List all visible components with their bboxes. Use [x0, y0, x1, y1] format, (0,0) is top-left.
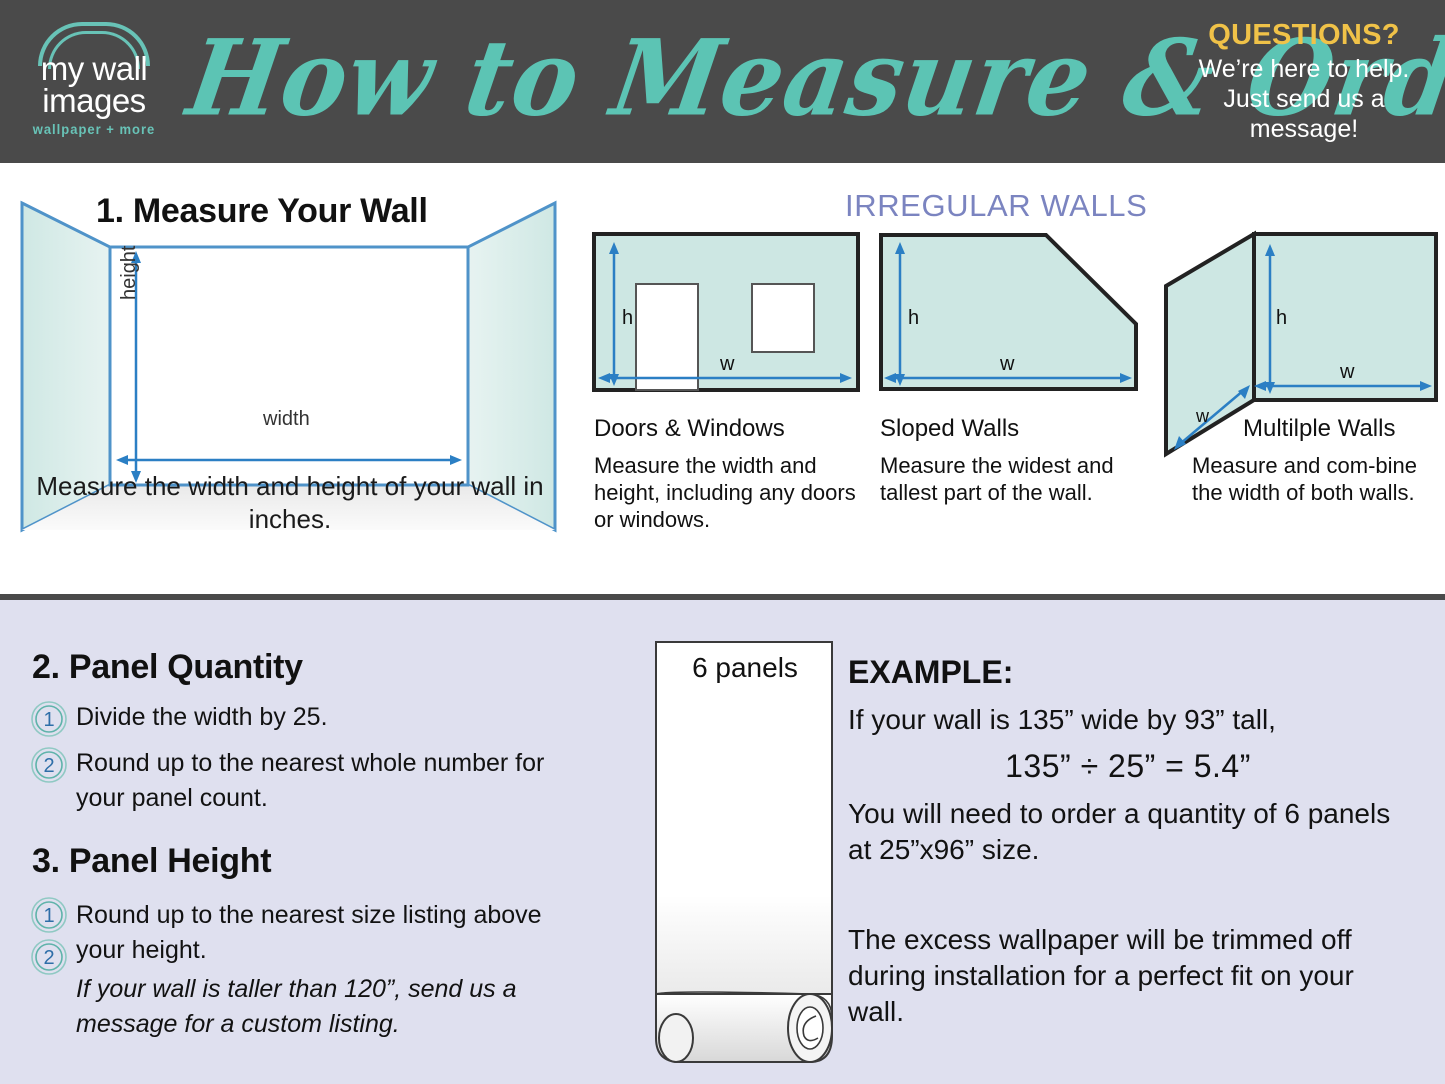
example-heading: EXAMPLE: [848, 654, 1013, 691]
logo-tagline-text: wallpaper + more [33, 122, 156, 138]
example-line-3: The excess wallpaper will be trimmed off… [848, 922, 1408, 1030]
brand-logo: my wall images wallpaper + more [14, 22, 174, 144]
logo-line-1: my wall [14, 52, 174, 86]
roll-panel-count-label: 6 panels [655, 652, 835, 684]
bullet-number-1-icon: 1 [30, 700, 68, 738]
step-2-item-1: Divide the width by 25. [76, 700, 566, 735]
svg-text:w: w [1195, 406, 1210, 426]
svg-text:w: w [999, 353, 1015, 375]
step-3-item-1: Round up to the nearest size listing abo… [76, 898, 576, 968]
logo-tagline: wallpaper + more [14, 122, 174, 138]
card-heading-sloped-walls: Sloped Walls [880, 415, 1019, 443]
card-body-doors-windows: Measure the width and height, including … [594, 452, 862, 533]
infographic-page: my wall images wallpaper + more How to M… [0, 0, 1445, 1084]
card-body-multiple-walls: Measure and com-bine the width of both w… [1192, 452, 1442, 506]
svg-text:1: 1 [43, 905, 54, 927]
wallpaper-roll-illustration [650, 638, 846, 1068]
svg-text:h: h [1276, 307, 1287, 329]
step-3-item-2: If your wall is taller than 120”, send u… [76, 972, 566, 1042]
bullet-number-4-icon: 2 [30, 938, 68, 976]
logo-line-2: images [14, 84, 174, 118]
svg-text:w: w [719, 353, 735, 375]
width-label: width [263, 408, 310, 431]
example-line-1: If your wall is 135” wide by 93” tall, [848, 702, 1438, 738]
svg-text:2: 2 [43, 755, 54, 777]
example-line-2: You will need to order a quantity of 6 p… [848, 796, 1408, 868]
step-3-title: 3. Panel Height [32, 842, 271, 881]
doors-windows-diagram: h w [592, 232, 860, 392]
questions-heading: QUESTIONS? [1179, 18, 1429, 52]
bullet-number-2-icon: 2 [30, 746, 68, 784]
bullet-number-3-icon: 1 [30, 896, 68, 934]
sloped-wall-diagram: h w [878, 232, 1142, 392]
card-heading-doors-windows: Doors & Windows [594, 415, 785, 443]
card-heading-multiple-walls: Multilple Walls [1243, 415, 1395, 443]
step-1-caption: Measure the width and height of your wal… [20, 470, 560, 536]
svg-text:w: w [1339, 361, 1355, 383]
step-2-item-2: Round up to the nearest whole number for… [76, 746, 556, 816]
page-title: How to Measure & Order [178, 2, 1182, 153]
irregular-walls-title: IRREGULAR WALLS [845, 188, 1147, 224]
height-label: height [118, 246, 141, 301]
svg-text:1: 1 [43, 709, 54, 731]
svg-text:h: h [908, 307, 919, 329]
questions-body: We’re here to help. Just send us a messa… [1179, 54, 1429, 144]
svg-text:h: h [622, 307, 633, 329]
example-equation: 135” ÷ 25” = 5.4” [848, 748, 1408, 784]
step-2-title: 2. Panel Quantity [32, 648, 303, 687]
svg-text:2: 2 [43, 947, 54, 969]
page-header: my wall images wallpaper + more How to M… [0, 0, 1445, 163]
questions-block: QUESTIONS? We’re here to help. Just send… [1179, 18, 1429, 144]
card-body-sloped-walls: Measure the widest and tallest part of t… [880, 452, 1140, 506]
